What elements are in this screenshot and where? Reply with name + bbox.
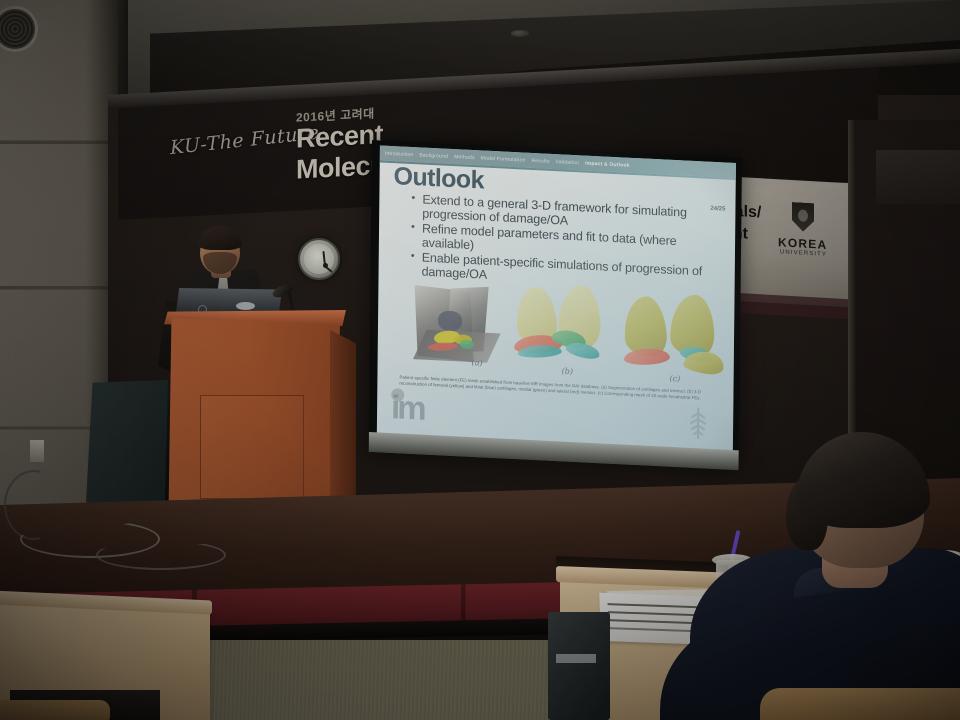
figure-panel-a-mri bbox=[414, 285, 501, 371]
audience-chair-left[interactable] bbox=[0, 700, 110, 720]
breadcrumb-item: Background bbox=[419, 152, 448, 159]
slide-page-number: 24/25 bbox=[710, 206, 725, 213]
figure-label-b: (b) bbox=[562, 367, 573, 377]
breadcrumb-item: Model Formulation bbox=[481, 155, 526, 163]
banner-title-line1: Recent bbox=[296, 119, 383, 155]
ceiling-light-icon bbox=[511, 30, 529, 37]
im-logo: im bbox=[391, 390, 443, 429]
breadcrumb-item: Validation bbox=[556, 159, 580, 166]
audience-chair[interactable] bbox=[760, 688, 960, 720]
fe-mesh-meniscus bbox=[623, 347, 670, 366]
korea-university-crest-icon bbox=[792, 202, 814, 232]
foreground-monitor bbox=[548, 612, 610, 720]
breadcrumb-item-active: Impact & Outlook bbox=[585, 160, 630, 168]
institution-subtitle: UNIVERSITY bbox=[780, 249, 827, 258]
right-wall-panel bbox=[876, 150, 960, 204]
breadcrumb-item: Methods bbox=[454, 154, 475, 161]
lecture-hall-scene: KU-The Future 2016년 고려대 Recent Molecu ri… bbox=[0, 0, 960, 720]
clock-center-pin bbox=[323, 263, 328, 268]
av-equipment-case bbox=[86, 380, 168, 510]
figure-label-c: (c) bbox=[670, 374, 681, 384]
tibial-cartilage bbox=[565, 340, 601, 361]
figure-panel-c-fe-mesh bbox=[624, 290, 727, 387]
breadcrumb-item: Results bbox=[531, 157, 549, 164]
wall-outlet-icon bbox=[30, 440, 44, 462]
podium-front-panel bbox=[200, 395, 304, 499]
laptop-brand-badge bbox=[236, 302, 255, 310]
slide-title: Outlook bbox=[393, 162, 484, 195]
wall-clock bbox=[298, 238, 340, 280]
figure-label-a: (a) bbox=[472, 358, 483, 368]
breadcrumb-item: Introduction bbox=[385, 150, 414, 157]
slide-figure-group: (a) (b) bbox=[396, 276, 727, 386]
projection-screen: Introduction Background Methods Model Fo… bbox=[369, 140, 742, 470]
segmentation-medial-meniscus bbox=[460, 339, 474, 349]
university-crest-watermark-icon bbox=[685, 407, 711, 440]
clock-face bbox=[304, 244, 334, 274]
segmentation-bone bbox=[438, 310, 462, 331]
podium-laptop[interactable] bbox=[176, 288, 282, 314]
slide-surface: Introduction Background Methods Model Fo… bbox=[377, 145, 736, 451]
